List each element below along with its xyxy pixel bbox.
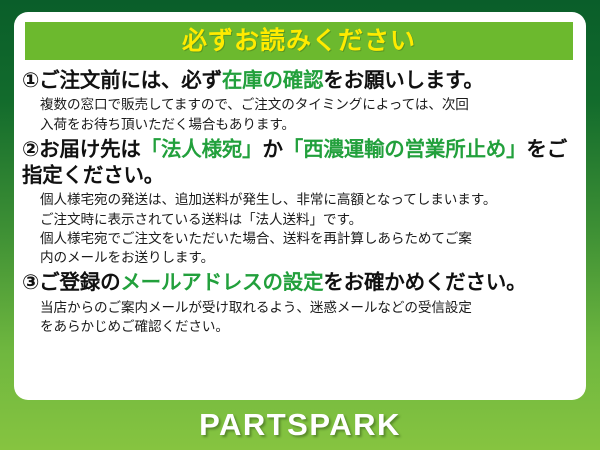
notice-item-2-body-line-4: 内のメールをお送りします。: [40, 248, 576, 267]
notice-item-1-head-part-1: ご注文前には、必ず: [39, 69, 222, 92]
footer-brand-bar: PARTSPARK: [0, 400, 600, 450]
notice-item-2: ②お届け先は「法人様宛」か「西濃運輸の営業所止め」をご指定ください。 個人様宅宛…: [22, 137, 576, 268]
notice-item-3-head-highlight: メールアドレスの設定: [120, 271, 323, 294]
brand-logo-text: PARTSPARK: [199, 407, 401, 443]
notice-item-2-head-part-1: お届け先は: [39, 138, 141, 161]
notice-item-2-head-part-3: か: [262, 138, 282, 161]
notice-item-2-body-line-1: 個人様宅宛の発送は、追加送料が発生し、非常に高額となってしまいます。: [40, 190, 576, 209]
notice-content: ①ご注文前には、必ず在庫の確認をお願いします。 複数の窓口で販売してますので、ご…: [14, 68, 586, 339]
title-bar: 必ずお読みください: [25, 22, 573, 60]
notice-item-3-body: 当店からのご案内メールが受け取れるよう、迷惑メールなどの受信設定 をあらかじめご…: [40, 298, 576, 337]
notice-item-3-head-part-1: ご登録の: [39, 271, 120, 294]
notice-item-3-body-line-2: をあらかじめご確認ください。: [40, 317, 576, 336]
notice-item-2-body-line-2: ご注文時に表示されている送料は「法人送料」です。: [40, 210, 576, 229]
notice-item-2-body: 個人様宅宛の発送は、追加送料が発生し、非常に高額となってしまいます。 ご注文時に…: [40, 190, 576, 267]
notice-item-2-marker: ②: [22, 138, 39, 161]
notice-item-1-marker: ①: [22, 69, 39, 92]
notice-item-1-head-highlight: 在庫の確認: [222, 69, 324, 92]
notice-item-2-head-highlight-2: 「西濃運輸の営業所止め」: [283, 138, 527, 161]
notice-item-3-heading: ③ご登録のメールアドレスの設定をお確かめください。: [22, 270, 576, 296]
notice-item-1-body-line-1: 複数の窓口で販売してますので、ご注文のタイミングによっては、次回: [40, 95, 576, 114]
notice-item-1-head-part-3: をお願いします。: [323, 69, 483, 92]
notice-item-1: ①ご注文前には、必ず在庫の確認をお願いします。 複数の窓口で販売してますので、ご…: [22, 68, 576, 134]
notice-item-2-head-highlight-1: 「法人様宛」: [141, 138, 263, 161]
notice-item-3-body-line-1: 当店からのご案内メールが受け取れるよう、迷惑メールなどの受信設定: [40, 298, 576, 317]
notice-item-1-heading: ①ご注文前には、必ず在庫の確認をお願いします。: [22, 68, 576, 94]
notice-item-3: ③ご登録のメールアドレスの設定をお確かめください。 当店からのご案内メールが受け…: [22, 270, 576, 336]
notice-item-2-heading: ②お届け先は「法人様宛」か「西濃運輸の営業所止め」をご指定ください。: [22, 137, 576, 189]
notice-item-1-body-line-2: 入荷をお待ち頂いただく場合もあります。: [40, 115, 576, 134]
notice-item-2-body-line-3: 個人様宅宛でご注文をいただいた場合、送料を再計算しあらためてご案: [40, 229, 576, 248]
notice-item-3-head-part-3: をお確かめください。: [323, 271, 526, 294]
notice-item-1-body: 複数の窓口で販売してますので、ご注文のタイミングによっては、次回 入荷をお待ち頂…: [40, 95, 576, 134]
notice-banner: 必ずお読みください ①ご注文前には、必ず在庫の確認をお願いします。 複数の窓口で…: [0, 0, 600, 450]
notice-panel: 必ずお読みください ①ご注文前には、必ず在庫の確認をお願いします。 複数の窓口で…: [14, 12, 586, 400]
notice-item-3-marker: ③: [22, 271, 39, 294]
banner-title: 必ずお読みください: [182, 29, 416, 54]
